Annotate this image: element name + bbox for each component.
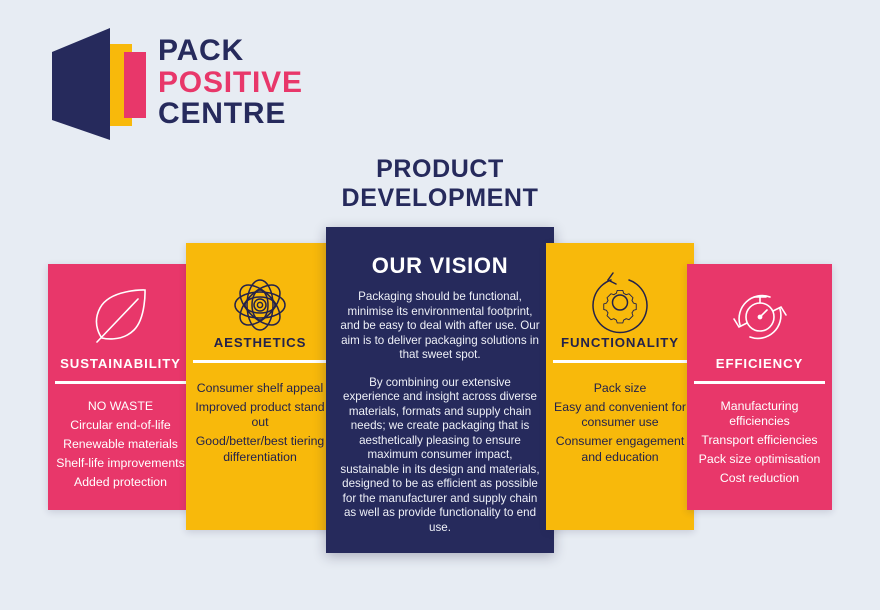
brand-wordmark: PACK POSITIVE CENTRE <box>158 35 303 130</box>
page-title-line-2: DEVELOPMENT <box>0 184 880 213</box>
pillar-card-efficiency[interactable]: EFFICIENCY Manufacturing efficiencies Tr… <box>687 264 832 510</box>
list-item: Consumer engagement and education <box>552 434 688 465</box>
gear-cycle-icon <box>583 243 657 335</box>
pillar-item-list: Manufacturing efficiencies Transport eff… <box>687 384 832 487</box>
pillar-title: AESTHETICS <box>214 335 307 350</box>
vision-title: OUR VISION <box>372 253 509 279</box>
logo-line-pack: PACK <box>158 35 303 67</box>
list-item: Good/better/best tiering differentiation <box>192 434 328 465</box>
list-item: Pack size <box>552 381 688 397</box>
list-item: Transport efficiencies <box>693 433 826 449</box>
page-title: PRODUCT DEVELOPMENT <box>0 155 880 213</box>
pillar-card-sustainability[interactable]: SUSTAINABILITY NO WASTE Circular end-of-… <box>48 264 193 510</box>
list-item: Improved product stand out <box>192 400 328 431</box>
list-item: Cost reduction <box>693 471 826 487</box>
infographic-canvas: PACK POSITIVE CENTRE PRODUCT DEVELOPMENT… <box>0 0 880 610</box>
pillar-item-list: Consumer shelf appeal Improved product s… <box>186 363 334 465</box>
pillar-title: SUSTAINABILITY <box>60 356 181 371</box>
brand-logo: PACK POSITIVE CENTRE <box>48 28 318 140</box>
pillar-title: FUNCTIONALITY <box>561 335 679 350</box>
list-item: Consumer shelf appeal <box>192 381 328 397</box>
list-item: Added protection <box>54 475 187 491</box>
pillar-item-list: Pack size Easy and convenient for consum… <box>546 363 694 465</box>
pack-positive-cube-logo-icon <box>48 28 148 140</box>
vision-panel: OUR VISION Packaging should be functiona… <box>326 227 554 553</box>
list-item: Circular end-of-life <box>54 418 187 434</box>
list-item: Manufacturing efficiencies <box>693 399 826 430</box>
list-item: Easy and convenient for consumer use <box>552 400 688 431</box>
vision-paragraph-1: Packaging should be functional, minimise… <box>340 290 540 363</box>
logo-line-positive: POSITIVE <box>158 67 303 99</box>
pillar-item-list: NO WASTE Circular end-of-life Renewable … <box>48 384 193 490</box>
pillar-card-functionality[interactable]: FUNCTIONALITY Pack size Easy and conveni… <box>546 243 694 530</box>
list-item: Shelf-life improvements <box>54 456 187 472</box>
vision-paragraph-2: By combining our extensive experience an… <box>340 376 540 536</box>
flower-atom-icon <box>223 243 297 335</box>
page-title-line-1: PRODUCT <box>0 155 880 184</box>
list-item: Pack size optimisation <box>693 452 826 468</box>
stopwatch-cycle-icon <box>724 264 796 356</box>
list-item: Renewable materials <box>54 437 187 453</box>
pillar-card-aesthetics[interactable]: AESTHETICS Consumer shelf appeal Improve… <box>186 243 334 530</box>
list-item: NO WASTE <box>54 399 187 415</box>
leaf-icon <box>88 264 154 356</box>
logo-line-centre: CENTRE <box>158 98 303 130</box>
pillar-title: EFFICIENCY <box>716 356 803 371</box>
